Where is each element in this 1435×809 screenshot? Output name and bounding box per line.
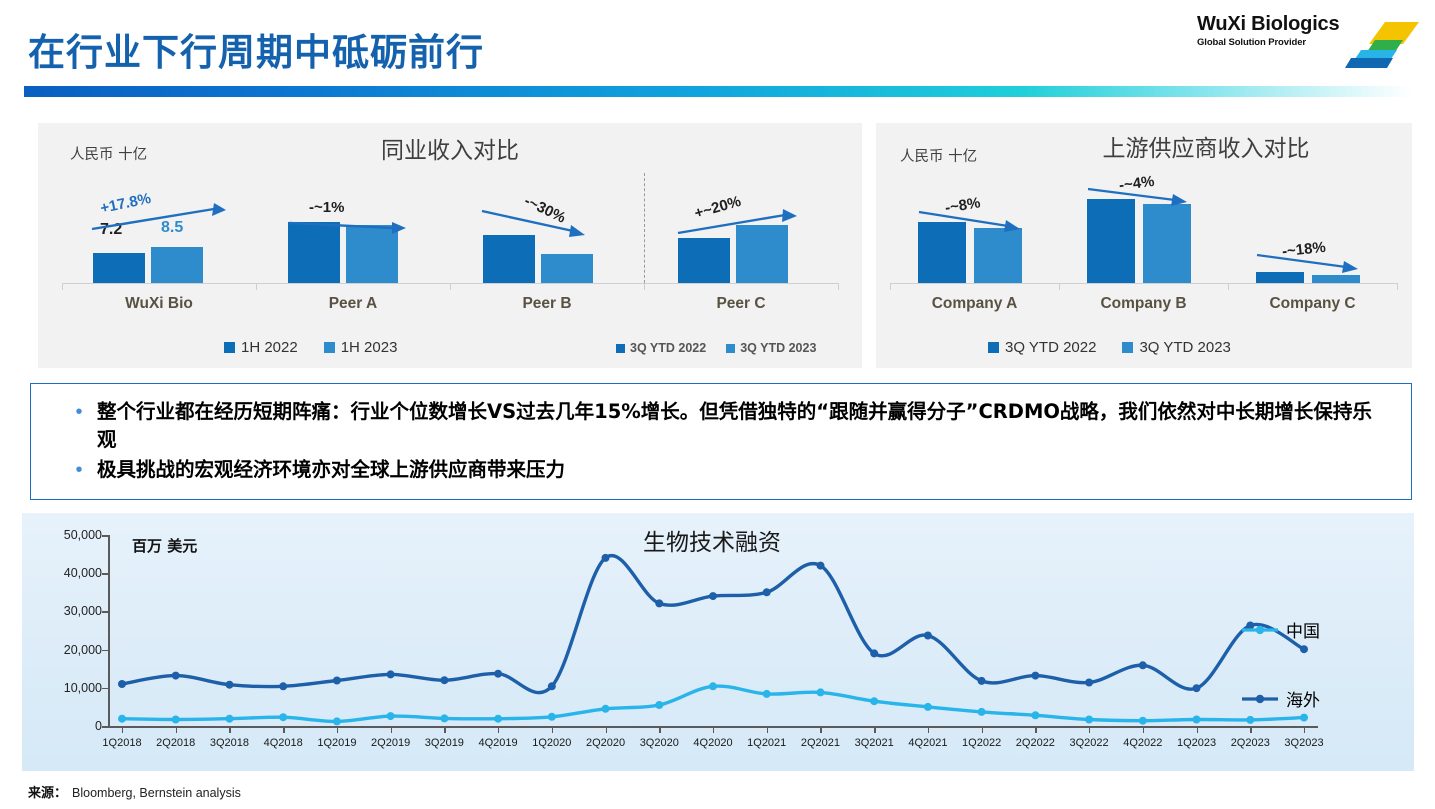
page-title: 在行业下行周期中砥砺前行 [28,22,484,76]
legend-item-1h-2022: 1H 2022 [224,339,298,356]
line-legend-item-china: 中国 [1240,617,1320,642]
data-point [709,682,717,690]
data-point [817,688,825,696]
data-point [172,672,180,680]
supplier-axis-line [890,283,1398,284]
source-footnote: 来源： Bloomberg, Bernstein analysis [28,782,241,801]
axis-tick [838,283,839,290]
data-point [978,708,986,716]
bullet-item-1: • 整个行业都在经历短期阵痛：行业个位数增长VS过去几年15%增长。但凭借独特的… [61,398,1391,453]
legend-line-icon [1240,623,1280,637]
data-point [1031,711,1039,719]
trend-arrow-down-company-c [1254,251,1370,277]
legend-swatch-icon [324,342,335,353]
group-label-wuxi-bio: WuXi Bio [62,295,256,313]
data-point [333,677,341,685]
data-point [1139,661,1147,669]
data-point [1193,716,1201,724]
data-point [1085,679,1093,687]
axis-tick [644,283,645,290]
data-point [978,677,986,685]
key-messages-box: • 整个行业都在经历短期阵痛：行业个位数增长VS过去几年15%增长。但凭借独特的… [30,383,1412,500]
data-point [709,592,717,600]
supplier-legend: 3Q YTD 2022 3Q YTD 2023 [988,339,1257,356]
peer-plot-area: 7.2 8.5 +17.8% WuXi Bio -~1% Peer A -~30… [38,123,862,368]
data-point [548,713,556,721]
wuxi-biologics-logo: WuXi Biologics Global Solution Provider [1197,14,1417,68]
line-legend-item-overseas: 海外 [1240,686,1320,711]
bar-peer-c-2022 [678,238,730,283]
group-label-peer-c: Peer C [644,295,838,313]
group-label-company-c: Company C [1228,295,1397,313]
axis-tick [450,283,451,290]
group-label-peer-a: Peer A [256,295,450,313]
legend-item-3q-ytd-2023: 3Q YTD 2023 [726,341,816,355]
delta-label-peer-a: -~1% [309,199,344,216]
title-underline-bar [24,86,1412,97]
trend-arrow-down-company-b [1085,185,1199,211]
data-point [870,649,878,657]
source-value: Bloomberg, Bernstein analysis [72,786,241,800]
legend-swatch-icon [988,342,999,353]
data-point [1193,684,1201,692]
data-point [1085,716,1093,724]
group-label-peer-b: Peer B [450,295,644,313]
data-point [870,697,878,705]
data-point [1246,716,1254,724]
axis-tick [1228,283,1229,290]
source-key: 来源： [28,782,67,801]
data-point [1300,714,1308,722]
data-point [226,715,234,723]
trend-arrow-up-wuxi [88,201,228,233]
bullet-text: 整个行业都在经历短期阵痛：行业个位数增长VS过去几年15%增长。但凭借独特的“跟… [97,398,1391,453]
axis-tick [1059,283,1060,290]
supplier-plot-area: -~8% Company A -~4% Company B -~18% [876,123,1412,368]
bullet-marker: • [61,456,97,484]
data-point [172,716,180,724]
data-point [548,682,556,690]
series-line-海外 [122,556,1304,693]
data-point [279,713,287,721]
legend-item-1h-2023: 1H 2023 [324,339,398,356]
legend-item-3q-ytd-2022: 3Q YTD 2022 [616,341,706,355]
data-point [1139,717,1147,725]
biotech-financing-chart: 生物技术融资 百万 美元 010,00020,00030,00040,00050… [22,513,1414,771]
axis-tick [256,283,257,290]
bar-company-b-2022 [1087,199,1135,283]
bullet-text: 极具挑战的宏观经济环境亦对全球上游供应商带来压力 [97,456,565,484]
group-label-company-b: Company B [1059,295,1228,313]
data-point [817,562,825,570]
supplier-revenue-chart-panel: 人民币 十亿 上游供应商收入对比 -~8% Company A -~4% [876,123,1412,368]
legend-label: 1H 2022 [241,339,298,356]
data-point [387,712,395,720]
bullet-item-2: • 极具挑战的宏观经济环境亦对全球上游供应商带来压力 [61,456,1391,484]
legend-item-3q-ytd-2023: 3Q YTD 2023 [1122,339,1230,356]
data-point [602,554,610,562]
slide-root: 在行业下行周期中砥砺前行 WuXi Biologics Global Solut… [0,0,1435,809]
legend-label: 3Q YTD 2022 [630,341,706,355]
data-point [1300,645,1308,653]
data-point [440,676,448,684]
data-point [924,703,932,711]
data-point [333,717,341,725]
data-point [655,701,663,709]
bar-company-b-2023 [1143,204,1191,283]
data-point [118,680,126,688]
bullet-marker: • [61,398,97,453]
legend-line-icon [1240,692,1280,706]
peer-legend-left: 1H 2022 1H 2023 [224,339,423,356]
data-point [602,705,610,713]
trend-arrow-up-peer-c [675,207,805,237]
legend-swatch-icon [1122,342,1133,353]
data-point [494,715,502,723]
data-point [1031,672,1039,680]
bar-wuxi-bio-2022 [93,253,145,283]
peer-group-separator [644,173,645,283]
logo-stripes-icon [1341,22,1419,68]
bar-peer-b-2022 [483,235,535,283]
legend-swatch-icon [616,344,625,353]
trend-arrow-flat-peer-a [286,217,411,235]
legend-label: 3Q YTD 2023 [740,341,816,355]
series-line-中国 [122,686,1304,721]
legend-label-overseas: 海外 [1286,686,1320,711]
legend-swatch-icon [726,344,735,353]
data-point [494,670,502,678]
legend-label: 3Q YTD 2022 [1005,339,1096,356]
data-point [440,714,448,722]
axis-tick [890,283,891,290]
legend-label: 3Q YTD 2023 [1139,339,1230,356]
data-point [387,670,395,678]
data-point [655,599,663,607]
data-point [118,715,126,723]
line-series-svg [22,513,1414,771]
group-label-company-a: Company A [890,295,1059,313]
legend-item-3q-ytd-2022: 3Q YTD 2022 [988,339,1096,356]
peer-legend-right: 3Q YTD 2022 3Q YTD 2023 [616,341,816,355]
axis-tick [1397,283,1398,290]
axis-tick [62,283,63,290]
peer-revenue-chart-panel: 人民币 十亿 同业收入对比 7.2 8.5 +17.8% WuXi Bio [38,123,862,368]
legend-label-china: 中国 [1286,617,1320,642]
bar-peer-b-2023 [541,254,593,283]
legend-swatch-icon [224,342,235,353]
data-point [279,682,287,690]
data-point [924,632,932,640]
legend-label: 1H 2023 [341,339,398,356]
trend-arrow-down-peer-b [479,207,599,241]
bar-wuxi-bio-2023 [151,247,203,283]
trend-arrow-down-company-a [916,207,1032,237]
data-point [763,690,771,698]
data-point [763,588,771,596]
data-point [226,681,234,689]
